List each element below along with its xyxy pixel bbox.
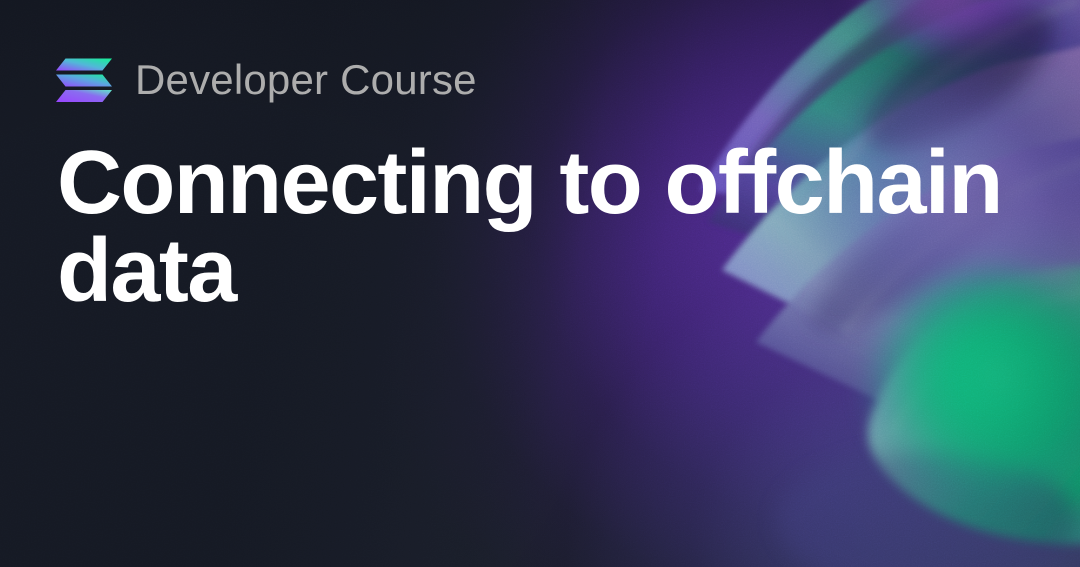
course-banner: Developer Course Connecting to offchain …	[0, 0, 1080, 567]
brand-label: Developer Course	[135, 59, 477, 101]
banner-content: Developer Course Connecting to offchain …	[0, 0, 1080, 567]
page-title: Connecting to offchain data	[57, 139, 1042, 315]
brand-line: Developer Course	[55, 54, 1080, 106]
solana-logo-icon	[55, 56, 113, 104]
